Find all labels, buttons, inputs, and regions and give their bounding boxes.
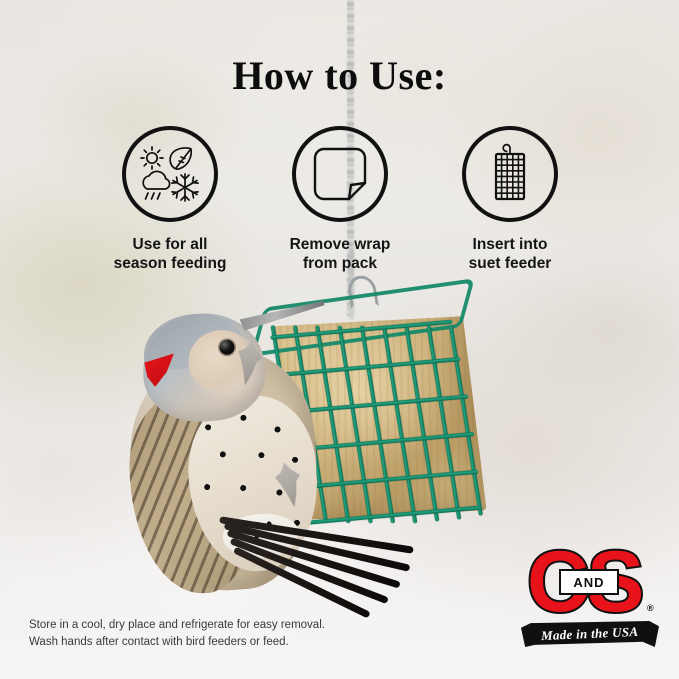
step-label: Use for all season feeding: [114, 236, 227, 274]
logo-and-box: AND: [559, 569, 619, 595]
storage-instructions: Store in a cool, dry place and refrigera…: [29, 617, 325, 650]
made-in-usa-text: Made in the USA: [541, 624, 639, 644]
step-label: Insert into suet feeder: [469, 236, 552, 274]
wrapper-peel-glyph: [311, 145, 369, 203]
bird-bill: [239, 301, 327, 331]
suet-feeder-cage-glyph: [481, 142, 539, 206]
logo-letters: C S AND ®: [519, 541, 659, 623]
northern-flicker-bird: [110, 283, 345, 597]
how-to-use-steps: Use for all season feeding Remove wrap f…: [95, 126, 585, 274]
step-label: Remove wrap from pack: [290, 236, 391, 274]
brand-logo: C S AND ® Made in the USA: [519, 541, 659, 649]
wrapper-peel-icon: [292, 126, 388, 222]
page-title: How to Use:: [0, 52, 679, 99]
step-use-for-all-season-feeding: Use for all season feeding: [95, 126, 245, 274]
suet-feeder-cage-icon: [462, 126, 558, 222]
bird-tail: [216, 518, 429, 621]
four-seasons-glyph: [138, 144, 202, 204]
four-seasons-icon: [122, 126, 218, 222]
registered-trademark-icon: ®: [647, 603, 654, 613]
made-in-usa-banner: Made in the USA: [521, 621, 659, 647]
step-remove-wrap-from-pack: Remove wrap from pack: [265, 126, 415, 274]
step-insert-into-suet-feeder: Insert into suet feeder: [435, 126, 585, 274]
product-infographic: How to Use:: [0, 0, 679, 679]
